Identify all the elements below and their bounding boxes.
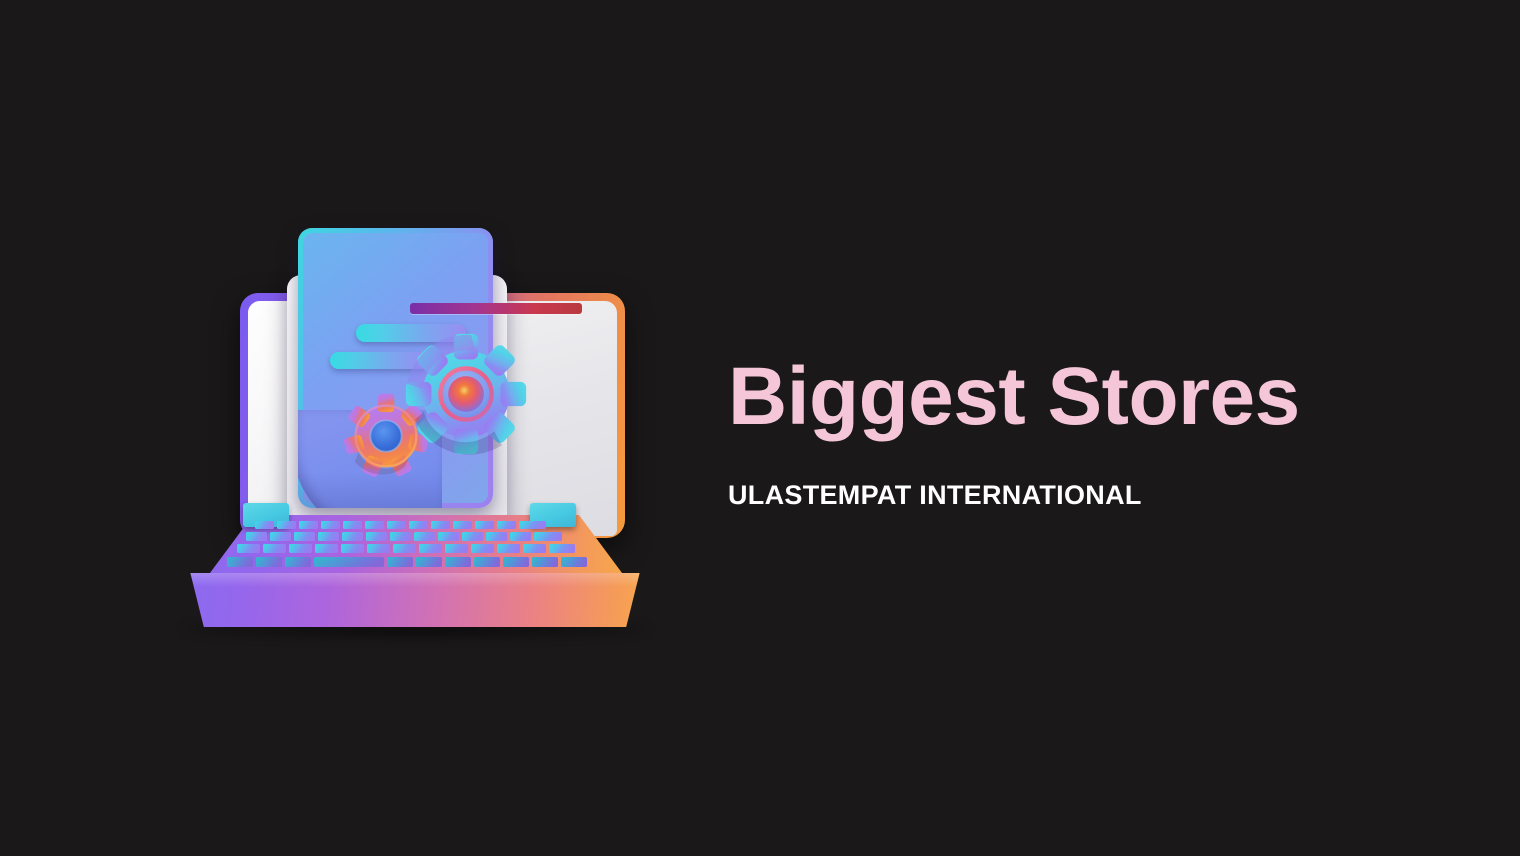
title-slide: Biggest Stores ULASTEMPAT INTERNATIONAL <box>0 0 1520 856</box>
laptop-keyboard <box>210 520 605 576</box>
page-title: Biggest Stores <box>728 356 1428 438</box>
laptop-base-front <box>175 573 655 627</box>
hero-illustration <box>165 215 665 645</box>
laptop-trackpad-slot <box>410 303 582 314</box>
illustration-stage <box>165 215 665 645</box>
title-text-block: Biggest Stores ULASTEMPAT INTERNATIONAL <box>728 356 1428 511</box>
gear-large-icon <box>402 330 530 458</box>
page-subtitle: ULASTEMPAT INTERNATIONAL <box>728 480 1428 511</box>
